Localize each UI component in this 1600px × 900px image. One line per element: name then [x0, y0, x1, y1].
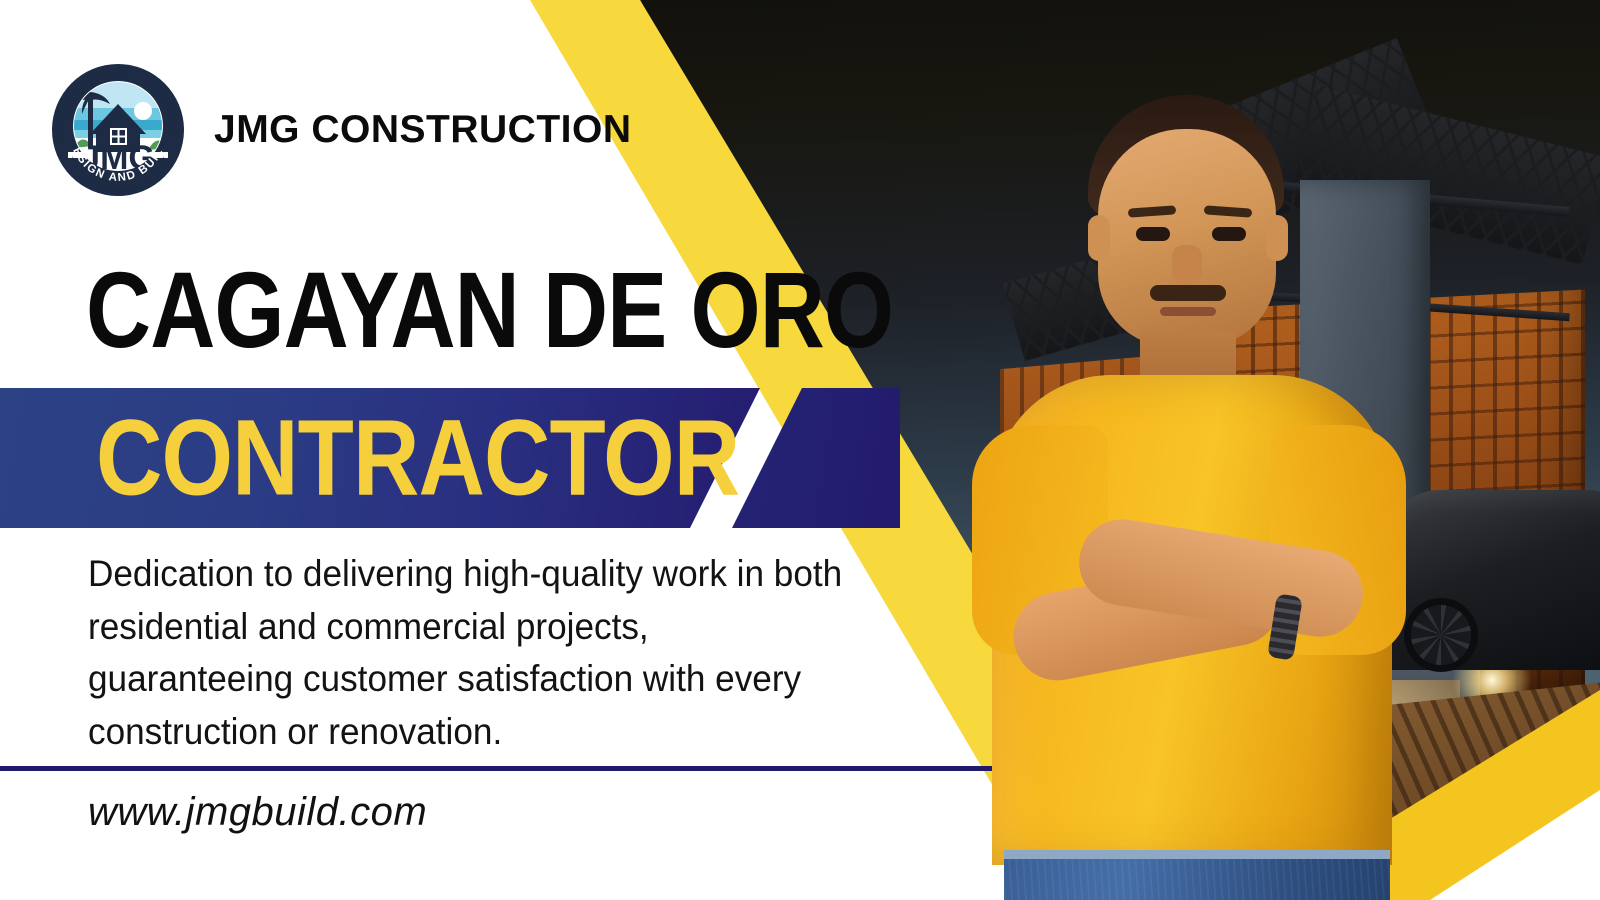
website-url[interactable]: www.jmgbuild.com: [88, 790, 427, 835]
page-headline: CAGAYAN DE ORO: [86, 258, 893, 361]
horizontal-divider: [0, 766, 1065, 771]
mouth: [1160, 307, 1216, 316]
body-paragraph: Dedication to delivering high-quality wo…: [88, 548, 848, 758]
eye-left: [1136, 227, 1170, 241]
marketing-banner: JMG DESIGN AND BUILD CDO CONSTRUCTION • …: [0, 0, 1600, 900]
brand-header: JMG DESIGN AND BUILD CDO CONSTRUCTION • …: [44, 56, 632, 204]
jmg-logo: JMG DESIGN AND BUILD CDO CONSTRUCTION • …: [44, 56, 192, 204]
moustache: [1150, 285, 1226, 301]
company-name: JMG CONSTRUCTION: [214, 108, 632, 152]
eye-right: [1212, 227, 1246, 241]
nose: [1172, 245, 1202, 287]
jeans-waistband: [1004, 850, 1390, 859]
page-subheadline: CONTRACTOR: [96, 382, 739, 533]
portrait-subject: [960, 95, 1440, 900]
ear-right: [1266, 215, 1288, 261]
subheadline-band: CONTRACTOR: [0, 388, 900, 528]
ear-left: [1088, 215, 1110, 261]
